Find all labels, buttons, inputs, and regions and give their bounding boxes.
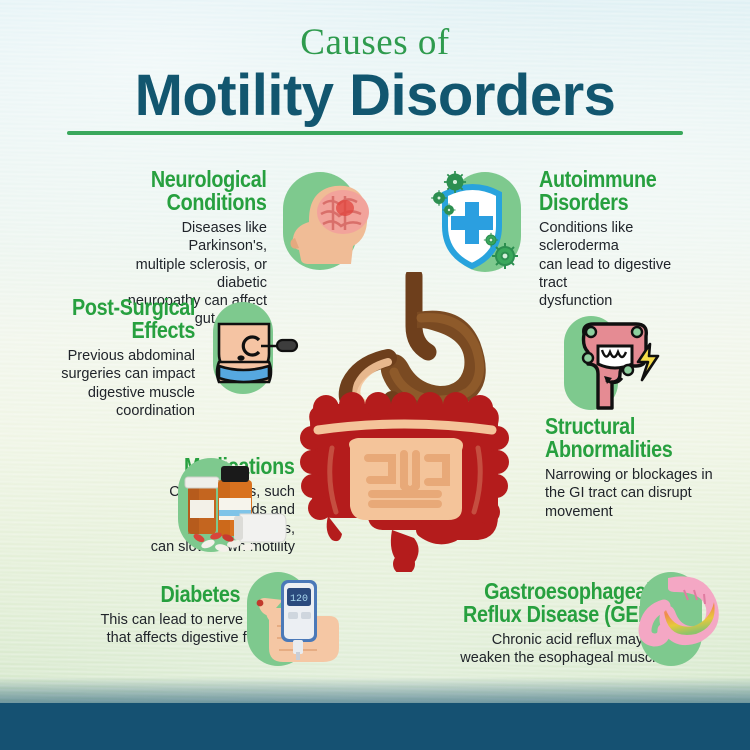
stomach-acid-icon: [634, 566, 738, 672]
shield-virus-icon: [425, 168, 533, 276]
eyebrow-text: Causes of: [0, 24, 750, 61]
svg-text:120: 120: [290, 594, 308, 605]
pill-bottles-icon: [172, 452, 294, 560]
section-post-surgical: Post-Surgical Effects Previous abdominal…: [40, 296, 305, 420]
intestine-blockage-icon: [558, 312, 666, 416]
section-structural: Structural Abnormalities Narrowing or bl…: [545, 415, 745, 521]
head-brain-icon: [273, 168, 375, 274]
glucometer-hand-icon: 120: [243, 568, 355, 672]
diabetes-heading: Diabetes: [160, 583, 240, 606]
title-underline: [67, 131, 683, 135]
abdomen-surgery-icon: [201, 296, 305, 400]
autoimmune-body: Conditions like scleroderma can lead to …: [539, 219, 700, 310]
page-header: Causes of Motility Disorders: [0, 24, 750, 135]
post-surgical-heading: Post-Surgical Effects: [72, 296, 195, 342]
autoimmune-heading: Autoimmune Disorders: [539, 168, 656, 214]
structural-heading: Structural Abnormalities: [545, 415, 672, 461]
bottom-bar-fade: [0, 677, 750, 703]
post-surgical-text: Post-Surgical Effects Previous abdominal…: [40, 296, 195, 420]
autoimmune-text: Autoimmune Disorders Conditions like scl…: [539, 168, 700, 310]
structural-text: Structural Abnormalities Narrowing or bl…: [545, 415, 745, 521]
page-title: Motility Disorders: [0, 64, 750, 129]
post-surgical-body: Previous abdominal surgeries can impact …: [40, 347, 195, 420]
section-autoimmune: Autoimmune Disorders Conditions like scl…: [425, 168, 700, 310]
neurological-heading: Neurological Conditions: [151, 168, 267, 214]
structural-body: Narrowing or blockages in the GI tract c…: [545, 466, 745, 521]
bottom-bar: [0, 703, 750, 750]
